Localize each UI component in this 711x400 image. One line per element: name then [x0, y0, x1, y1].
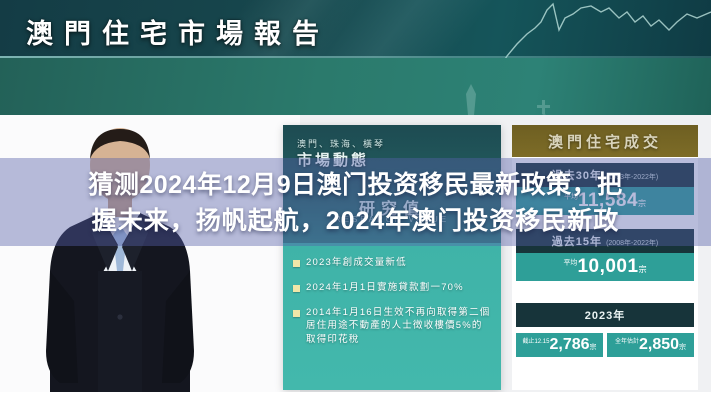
list-item: 2014年1月16日生效不再向取得第二個居住用途不動產的人士徵收樓價5%的取得印… — [293, 306, 493, 347]
stat-half-forecast: 全年估計2,850宗 — [607, 333, 694, 357]
bullet-text: 2024年1月1日實施貸款劃一70% — [306, 281, 464, 295]
stat-half-ytd: 截止12.152,786宗 — [516, 333, 603, 357]
transactions-header: 澳門住宅成交 — [512, 125, 698, 157]
stat-half-number: 2,786 — [549, 336, 589, 353]
overlay-title-band — [0, 158, 711, 246]
stat-block-2023: 2023年 截止12.152,786宗 全年估計2,850宗 — [516, 303, 694, 357]
square-bullet-icon — [293, 260, 300, 267]
banner-title: 澳門住宅市場報告 — [26, 12, 330, 51]
stat-half-prefix: 截止12.15 — [522, 339, 549, 345]
bullet-text: 2014年1月16日生效不再向取得第二個居住用途不動產的人士徵收樓價5%的取得印… — [306, 306, 493, 347]
bullet-text: 2023年創成交量新低 — [306, 256, 407, 270]
transactions-header-label: 澳門住宅成交 — [548, 131, 662, 152]
square-bullet-icon — [293, 310, 300, 317]
stat-label: 2023年 — [516, 303, 694, 327]
bullets-list: 2023年創成交量新低 2024年1月1日實施貸款劃一70% 2014年1月16… — [293, 256, 493, 358]
stat-value-suffix: 宗 — [639, 265, 647, 274]
list-item: 2023年創成交量新低 — [293, 256, 493, 270]
stat-split-row: 截止12.152,786宗 全年估計2,850宗 — [516, 333, 694, 357]
stat-value-number: 10,001 — [577, 256, 638, 277]
report-banner-mid: 2024年度展望及2023年總結 — [0, 58, 711, 115]
stat-value: 平均10,001宗 — [516, 253, 694, 281]
stat-half-prefix: 全年估計 — [615, 339, 639, 345]
bottom-white-strip — [0, 392, 711, 400]
stat-value-prefix: 平均 — [563, 260, 577, 267]
report-banner-top: 澳門住宅市場報告 — [0, 0, 711, 58]
list-item: 2024年1月1日實施貸款劃一70% — [293, 281, 493, 295]
macau-skyline-decoration — [411, 84, 711, 115]
stat-label-text: 2023年 — [585, 310, 625, 322]
banner-line-chart-decoration — [381, 0, 711, 58]
stat-half-suffix: 宗 — [679, 344, 686, 351]
stat-half-suffix: 宗 — [590, 344, 597, 351]
stat-half-number: 2,850 — [639, 336, 679, 353]
square-bullet-icon — [293, 285, 300, 292]
screenshot-stage: 澳門住宅市場報告 — [0, 0, 711, 400]
